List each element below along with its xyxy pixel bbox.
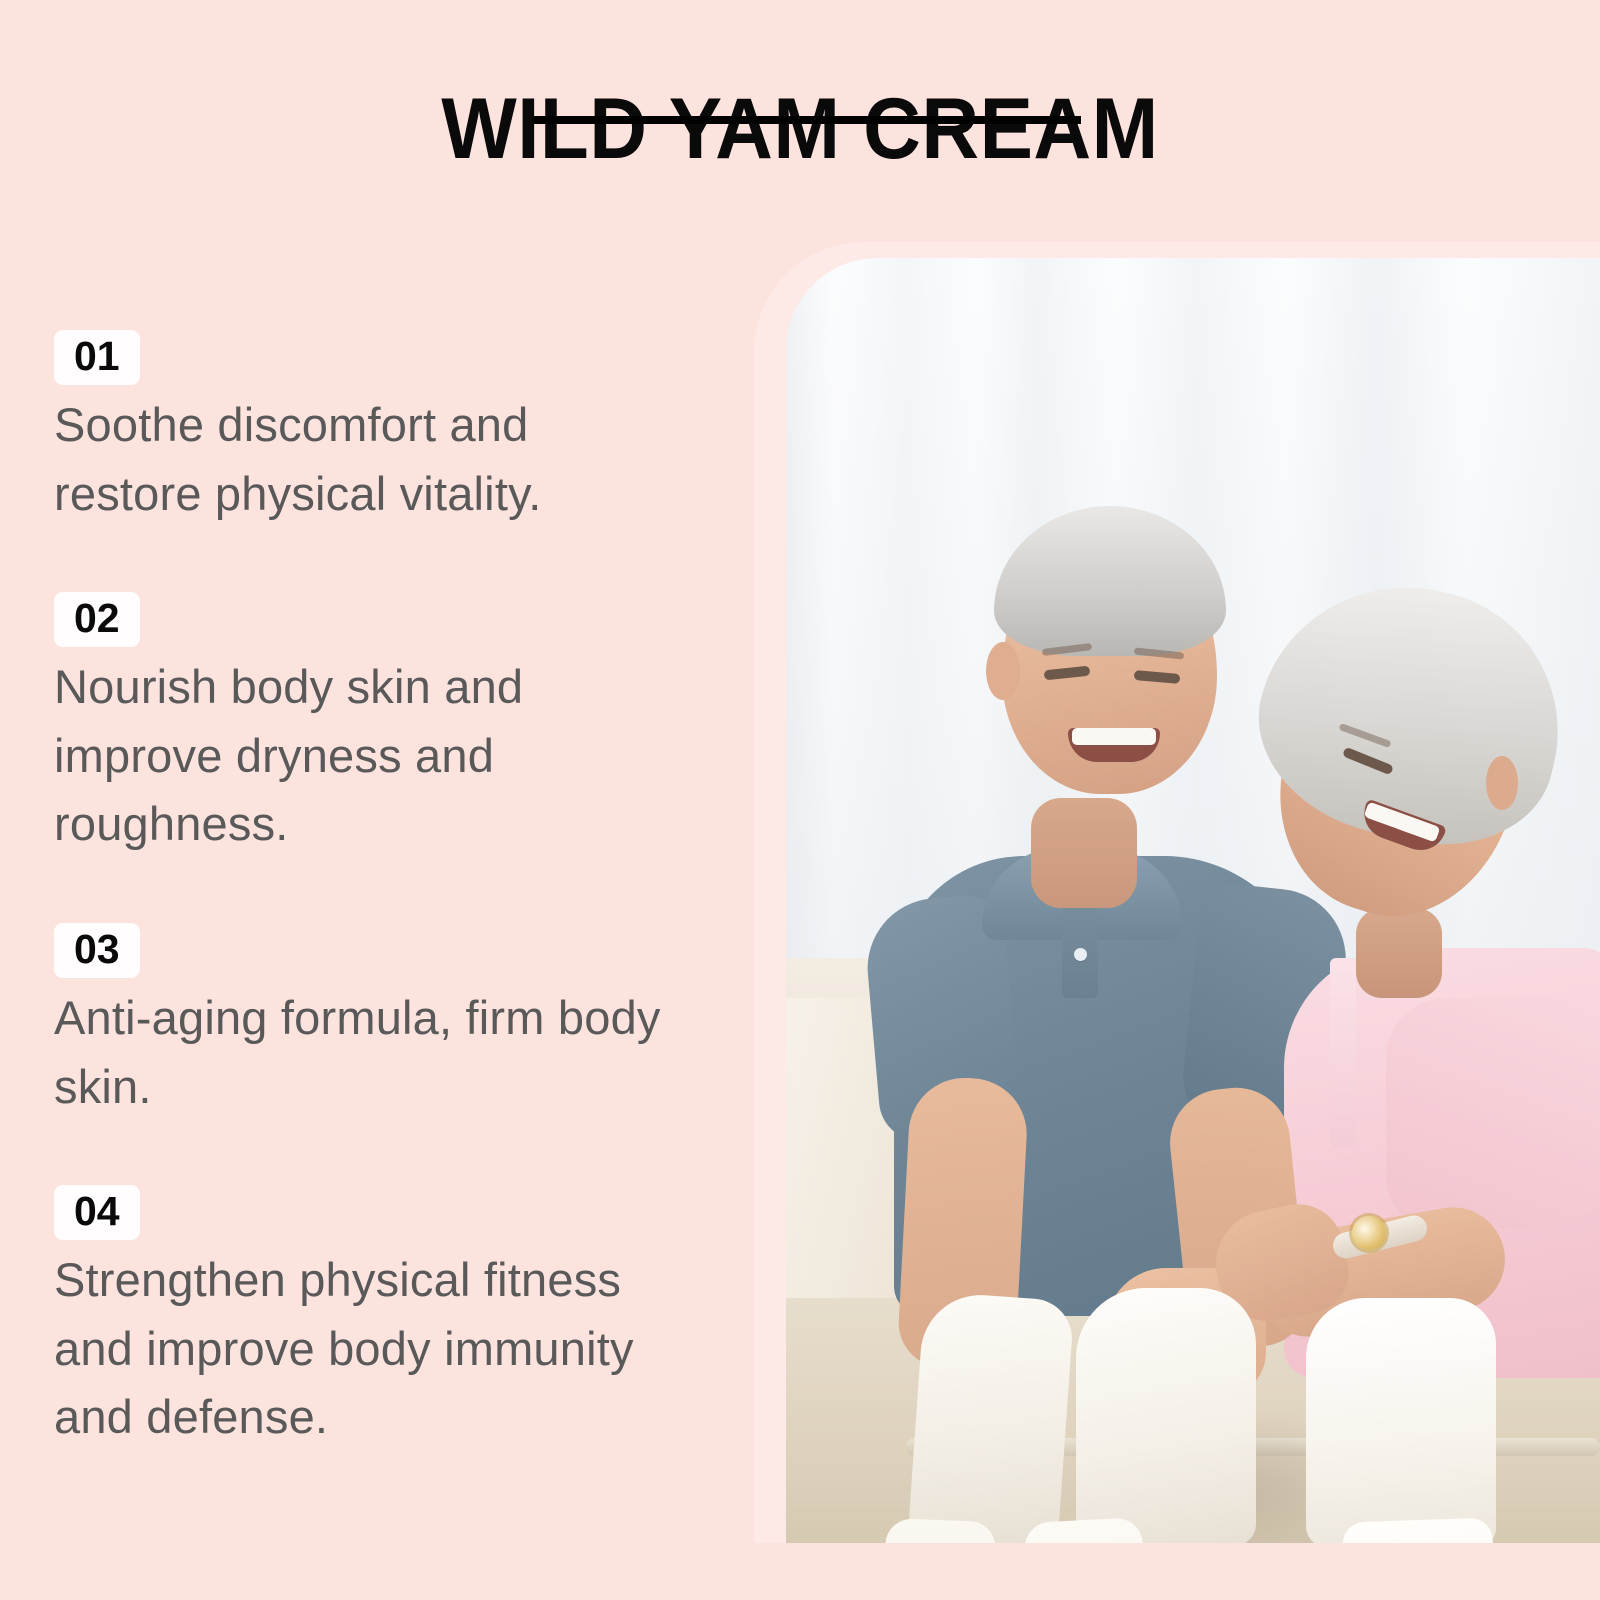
photo-man-left-thigh [907,1291,1074,1543]
photo-man-right-thigh [1076,1288,1256,1543]
feature-text-03: Anti-aging formula, firm body skin. [54,984,664,1121]
photo-woman-shin [1342,1517,1500,1543]
lifestyle-photo [786,258,1600,1543]
feature-text-04: Strengthen physical fitness and improve … [54,1246,664,1452]
photo-woman-ear [1486,756,1518,810]
feature-text-01: Soothe discomfort and restore physical v… [54,391,664,528]
title-underline-rule [533,116,1081,124]
feature-item-02: 02 Nourish body skin and improve dryness… [54,592,694,859]
feature-item-03: 03 Anti-aging formula, firm body skin. [54,923,694,1121]
feature-number-badge-04: 04 [54,1185,140,1240]
page-title-text: WILD YAM CREAM [56,86,1544,172]
photo-man-neck [1031,798,1137,908]
feature-number-badge-01: 01 [54,330,140,385]
photo-man-ear [986,642,1020,700]
product-feature-poster: WILD YAM CREAM 01 Soothe discomfort and … [0,0,1600,1600]
feature-list: 01 Soothe discomfort and restore physica… [54,330,694,1452]
photo-woman-cardigan-placket [1330,958,1356,1148]
page-title: WILD YAM CREAM [0,86,1600,172]
feature-item-01: 01 Soothe discomfort and restore physica… [54,330,694,528]
feature-number-badge-02: 02 [54,592,140,647]
photo-man-teeth [1072,728,1156,745]
photo-man-shirt-button-bottom [1074,948,1087,961]
feature-item-04: 04 Strengthen physical fitness and impro… [54,1185,694,1452]
photo-woman-neck [1356,908,1442,998]
photo-woman-thigh [1306,1298,1496,1543]
photo-woman-sleeve [1386,998,1600,1228]
feature-text-02: Nourish body skin and improve dryness an… [54,653,664,859]
feature-number-badge-03: 03 [54,923,140,978]
